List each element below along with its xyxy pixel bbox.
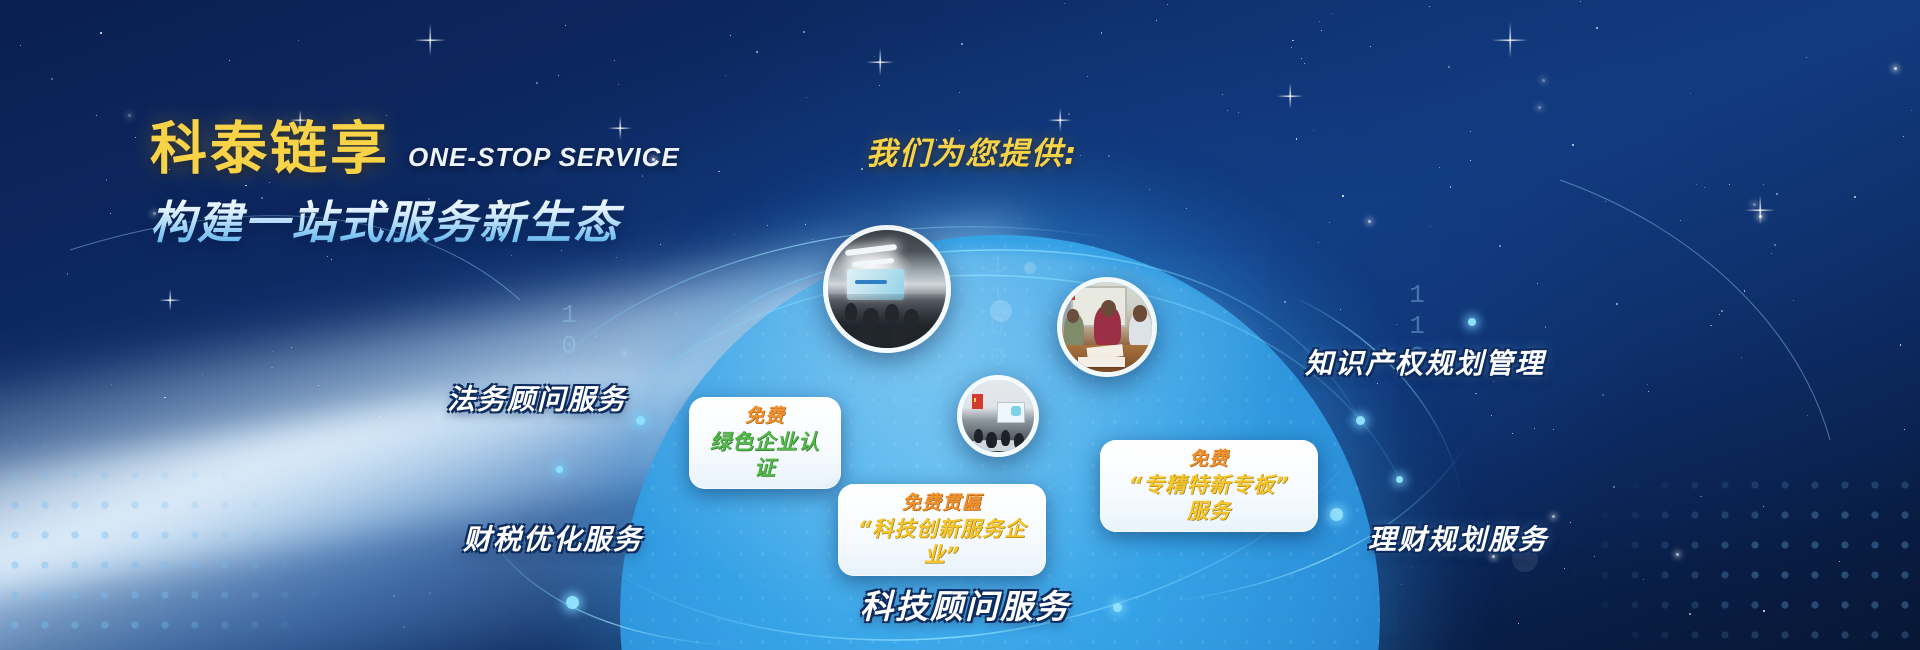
bubble-decoration	[990, 300, 1012, 322]
promo-banner: 1001 110 1100	[0, 0, 1920, 650]
node-dot	[566, 596, 579, 609]
brand-tagline-english: ONE-STOP SERVICE	[408, 142, 680, 180]
service-label-finance[interactable]: 财税优化服务	[463, 518, 643, 558]
bubble-decoration	[1024, 262, 1036, 274]
sparkle-icon	[1492, 22, 1528, 58]
node-dot	[1468, 318, 1476, 326]
sparkle-icon	[159, 289, 181, 311]
badge-green-enterprise[interactable]: 免费 绿色企业认证	[689, 397, 841, 489]
service-label-ip[interactable]: 知识产权规划管理	[1305, 342, 1545, 382]
headline-subtitle: 构建一站式服务新生态	[150, 186, 770, 251]
sparkle-icon	[414, 24, 446, 56]
badge-specialized-board[interactable]: 免费 “专精特新专板” 服务	[1100, 440, 1318, 532]
brand-title: 科泰链享	[150, 120, 390, 180]
photo-office-desk	[1057, 277, 1157, 377]
node-dot	[1330, 508, 1343, 521]
badge-line2: 绿色企业认证	[707, 429, 823, 482]
halftone-dots-left	[0, 430, 330, 650]
node-dot	[1396, 476, 1403, 483]
badge-line2: “专精特新专板” 服务	[1118, 472, 1300, 525]
node-dot	[636, 416, 645, 425]
service-label-tech[interactable]: 科技顾问服务	[860, 580, 1070, 628]
service-label-legal[interactable]: 法务顾问服务	[447, 378, 627, 418]
service-label-wealth[interactable]: 理财规划服务	[1368, 518, 1548, 558]
sparkle-icon	[1745, 195, 1775, 225]
sparkle-icon	[1277, 83, 1303, 109]
sparkle-icon	[866, 48, 894, 76]
provide-heading: 我们为您提供:	[866, 128, 1078, 173]
badge-line2: “科技创新服务企业”	[856, 516, 1028, 569]
node-dot	[1356, 416, 1365, 425]
badge-line1: 免费贯匾	[856, 492, 1028, 516]
badge-tech-innovation[interactable]: 免费贯匾 “科技创新服务企业”	[838, 484, 1046, 576]
node-dot	[556, 466, 563, 473]
headline-block: 科泰链享 ONE-STOP SERVICE 构建一站式服务新生态	[150, 120, 770, 251]
node-dot	[1113, 603, 1122, 612]
badge-line1: 免费	[707, 405, 823, 429]
halftone-dots-right	[1560, 470, 1920, 650]
photo-seminar-hall	[823, 225, 951, 353]
photo-meeting-room	[957, 375, 1039, 457]
badge-line1: 免费	[1118, 448, 1300, 472]
